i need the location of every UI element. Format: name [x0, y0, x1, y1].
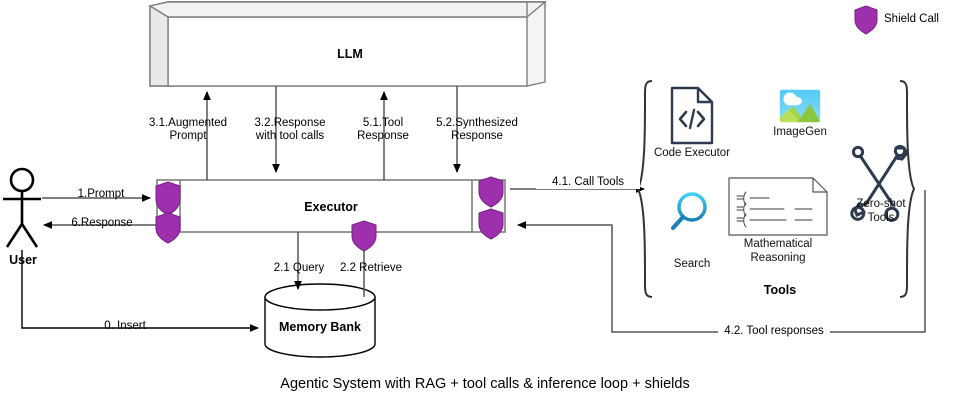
tool-label-mathematical-reasoning: Mathematical Reasoning [728, 238, 828, 265]
image-picture-icon [779, 89, 821, 123]
code-document-icon [672, 88, 712, 143]
shield-icon-executor-out-bottom [479, 209, 503, 239]
diagram-canvas: LLM Executor Memory Bank User 1.Prompt 6… [0, 0, 970, 411]
llm-box [150, 2, 545, 86]
tool-label-imagegen: ImageGen [762, 126, 838, 140]
shield-icon-legend [855, 6, 877, 34]
diagram-vector-layer [0, 0, 970, 411]
edge-label-augmented-prompt: 3.1.Augmented Prompt [138, 117, 238, 143]
edge-label-response-with-tool-calls: 3.2.Response with tool calls [238, 117, 342, 143]
magnifier-icon [673, 194, 705, 228]
tool-label-search: Search [660, 258, 724, 272]
user-stick-figure-icon [3, 169, 41, 247]
edge-label-response: 6.Response [54, 217, 150, 230]
formula-document-icon [729, 178, 827, 235]
shield-icon-executor-in-bottom [156, 213, 180, 243]
edge-label-tool-response: 5.1.Tool Response [340, 117, 426, 143]
executor-label: Executor [276, 200, 386, 214]
legend-shield-label: Shield Call [884, 13, 939, 25]
tools-brace-right [900, 81, 914, 297]
tool-label-zero-shot-tools: Zero-shot Tools [838, 198, 924, 225]
diagram-caption: Agentic System with RAG + tool calls & i… [135, 376, 835, 392]
edge-label-call-tools: 4.1. Call Tools [536, 176, 640, 189]
edge-label-insert: 0. Insert [80, 320, 170, 333]
shield-icon-executor-memory [352, 221, 376, 251]
llm-label: LLM [300, 47, 400, 61]
memory-bank-label: Memory Bank [265, 320, 375, 334]
edge-label-prompt: 1.Prompt [56, 188, 146, 201]
tool-label-code-executor: Code Executor [644, 147, 740, 161]
edge-label-tool-responses: 4.2. Tool responses [718, 325, 830, 338]
edge-insert [22, 250, 258, 328]
edge-label-retrieve: 2.2 Retrieve [324, 262, 418, 275]
user-label: User [0, 253, 46, 267]
edge-label-synthesized-response: 5.2.Synthesized Response [424, 117, 530, 143]
tools-group-label: Tools [740, 283, 820, 297]
